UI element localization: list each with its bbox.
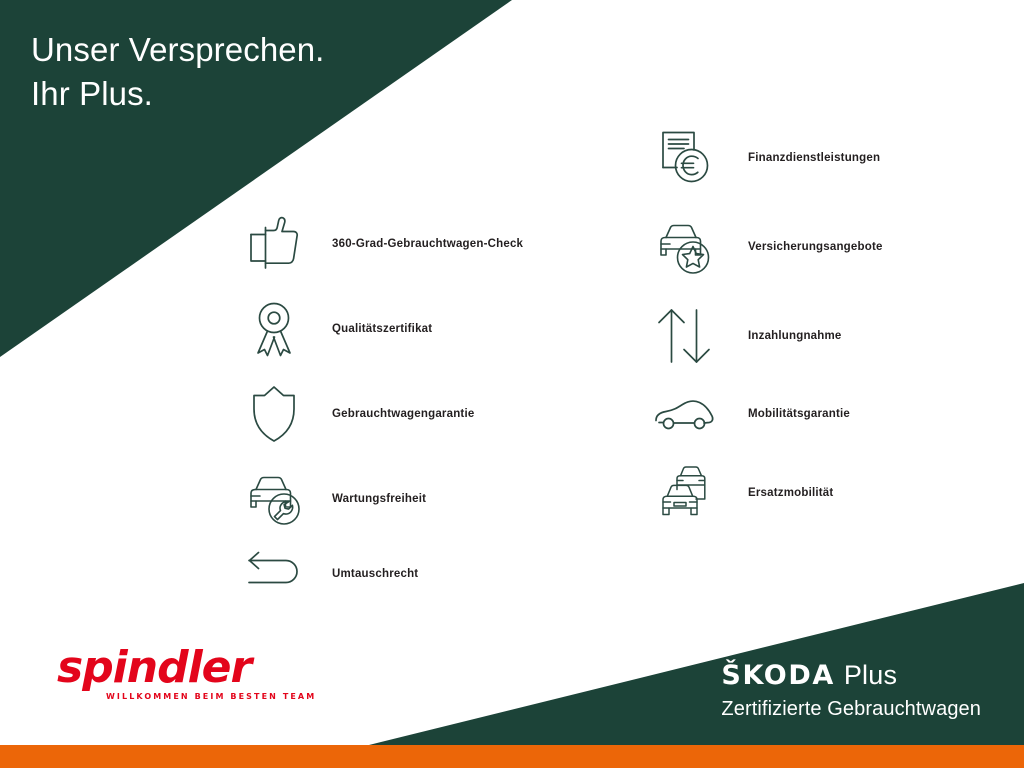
orange-accent-bar [0, 745, 1024, 768]
headline-line-1: Unser Versprechen. [31, 28, 461, 72]
award-rosette-icon [238, 293, 310, 365]
feature-label: 360-Grad-Gebrauchtwagen-Check [332, 238, 523, 250]
feature-label: Inzahlungnahme [748, 330, 842, 342]
feature-item-inzahlungnahme: Inzahlungnahme [648, 300, 1008, 372]
feature-item-versicherungsangebote: Versicherungsangebote [648, 211, 1008, 283]
feature-item-gebrauchtwagengarantie: Gebrauchtwagengarantie [238, 378, 638, 450]
feature-label: Versicherungsangebote [748, 241, 883, 253]
feature-item-mobilitaetsgarantie: Mobilitätsgarantie [648, 389, 1008, 439]
brand-program: Plus [844, 660, 897, 690]
feature-label: Ersatzmobilität [748, 487, 833, 499]
promo-banner: Unser Versprechen. Ihr Plus. 360-Grad-Ge… [0, 0, 1024, 768]
car-wrench-icon [238, 463, 310, 535]
brand-lockup: ŠKODAPlus Zertifizierte Gebrauchtwagen [721, 660, 981, 722]
feature-list-left: 360-Grad-Gebrauchtwagen-Check Qualitätsz… [238, 208, 638, 623]
dealer-logo: spindler WILLKOMMEN BEIM BESTEN TEAM [57, 645, 317, 702]
brand-subtitle: Zertifizierte Gebrauchtwagen [721, 696, 981, 722]
car-star-icon [648, 211, 720, 283]
feature-label: Mobilitätsgarantie [748, 408, 850, 420]
feature-label: Finanzdienstleistungen [748, 152, 880, 164]
brand-lockup-top: ŠKODAPlus [721, 660, 981, 695]
shield-icon [238, 378, 310, 450]
dealer-tagline: WILLKOMMEN BEIM BESTEN TEAM [106, 692, 317, 702]
dealer-wordmark: spindler [57, 645, 317, 691]
page-title: Unser Versprechen. Ihr Plus. [31, 28, 461, 116]
feature-item-qualitaetszertifikat: Qualitätszertifikat [238, 293, 638, 365]
car-side-icon [648, 378, 720, 450]
brand-name: ŠKODA [721, 660, 834, 691]
feature-list-right: Finanzdienstleistungen Versicherungsange… [648, 122, 1008, 546]
feature-item-wartungsfreiheit: Wartungsfreiheit [238, 463, 638, 535]
document-euro-icon [648, 122, 720, 194]
feature-label: Umtauschrecht [332, 568, 418, 580]
thumbs-up-icon [238, 208, 310, 280]
feature-label: Wartungsfreiheit [332, 493, 426, 505]
feature-item-ersatzmobilitaet: Ersatzmobilität [648, 457, 1008, 529]
feature-item-finanzdienstleistungen: Finanzdienstleistungen [648, 122, 1008, 194]
feature-label: Qualitätszertifikat [332, 323, 432, 335]
feature-item-umtauschrecht: Umtauschrecht [238, 538, 638, 610]
feature-label: Gebrauchtwagengarantie [332, 408, 474, 420]
return-arrow-icon [238, 538, 310, 610]
two-cars-icon [648, 457, 720, 529]
headline-line-2: Ihr Plus. [31, 72, 461, 116]
feature-item-360-grad-check: 360-Grad-Gebrauchtwagen-Check [238, 208, 638, 280]
up-down-arrows-icon [648, 300, 720, 372]
